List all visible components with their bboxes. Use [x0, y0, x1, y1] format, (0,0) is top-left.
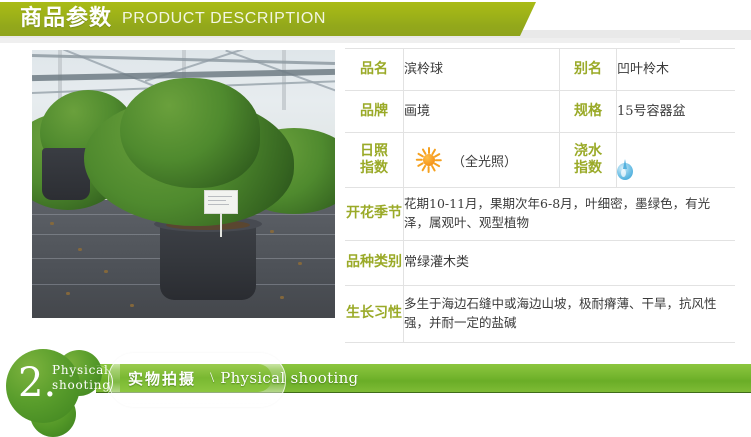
- sunlight-label-line2: 指数: [345, 160, 403, 178]
- sun-icon: [416, 147, 442, 173]
- spec-value-brand: 画境: [404, 91, 560, 133]
- watering-label-line2: 指数: [560, 160, 616, 178]
- spec-label-growth-habit: 生长习性: [345, 286, 404, 343]
- banner-text-group: 实物拍摄 \ Physical shooting: [128, 364, 358, 392]
- section-banner: 实物拍摄 \ Physical shooting 2. Physical sho…: [0, 345, 751, 424]
- spec-label-variety-type: 品种类别: [345, 241, 404, 286]
- header-grey-strip-secondary: [0, 38, 680, 43]
- banner-title-cn: 实物拍摄: [128, 368, 196, 389]
- spec-value-spec: 15号容器盆: [617, 91, 736, 133]
- table-row: 开花季节 花期10-11月，果期次年6-8月，叶细密，墨绿色，有光泽，属观叶、观…: [345, 188, 735, 241]
- table-row: 生长习性 多生于海边石缝中或海边山坡，极耐瘠薄、干旱，抗风性强，并耐一定的盐碱: [345, 286, 735, 343]
- banner-title-en: Physical shooting: [220, 369, 358, 387]
- badge-number: 2.: [18, 363, 56, 403]
- spec-table: 品名 滨柃球 别名 凹叶柃木 品牌 画境 规格 15号容器盆 日照 指数: [345, 48, 735, 343]
- photo-pot-main: [160, 222, 256, 300]
- photo-pot-secondary: [42, 148, 90, 200]
- table-row: 品牌 画境 规格 15号容器盆: [345, 91, 735, 133]
- spec-value-alias: 凹叶柃木: [617, 49, 736, 91]
- table-row: 日照 指数: [345, 133, 735, 188]
- spec-label-sunlight-index: 日照 指数: [345, 133, 404, 188]
- photo-post: [282, 50, 286, 110]
- spec-label-watering-index: 浇水 指数: [560, 133, 617, 188]
- spec-value-watering: [617, 133, 736, 188]
- spec-value-sunlight: （全光照）: [404, 133, 560, 188]
- photo-shrub-main: [120, 78, 260, 188]
- spec-value-bloom-season: 花期10-11月，果期次年6-8月，叶细密，墨绿色，有光泽，属观叶、观型植物: [404, 188, 736, 241]
- page-title-en: PRODUCT DESCRIPTION: [122, 11, 326, 27]
- page-title-cn: 商品参数: [20, 8, 112, 30]
- product-photo: [32, 50, 335, 318]
- sunlight-note: （全光照）: [452, 151, 517, 170]
- header-green-banner: 商品参数 PRODUCT DESCRIPTION: [0, 2, 536, 36]
- spec-label-alias: 别名: [560, 49, 617, 91]
- page-header: 商品参数 PRODUCT DESCRIPTION: [0, 0, 751, 45]
- spec-label-name: 品名: [345, 49, 404, 91]
- table-row: 品种类别 常绿灌木类: [345, 241, 735, 286]
- spec-label-spec: 规格: [560, 91, 617, 133]
- spec-label-bloom-season: 开花季节: [345, 188, 404, 241]
- table-row: 品名 滨柃球 别名 凹叶柃木: [345, 49, 735, 91]
- spec-value-name: 滨柃球: [404, 49, 560, 91]
- spec-value-growth-habit: 多生于海边石缝中或海边山坡，极耐瘠薄、干旱，抗风性强，并耐一定的盐碱: [404, 286, 736, 343]
- photo-plant-label-tag: [204, 190, 238, 214]
- spec-label-brand: 品牌: [345, 91, 404, 133]
- banner-separator: \: [210, 370, 214, 387]
- sunlight-label-line1: 日照: [345, 143, 403, 161]
- watering-label-line1: 浇水: [560, 143, 616, 161]
- spec-value-variety-type: 常绿灌木类: [404, 241, 736, 286]
